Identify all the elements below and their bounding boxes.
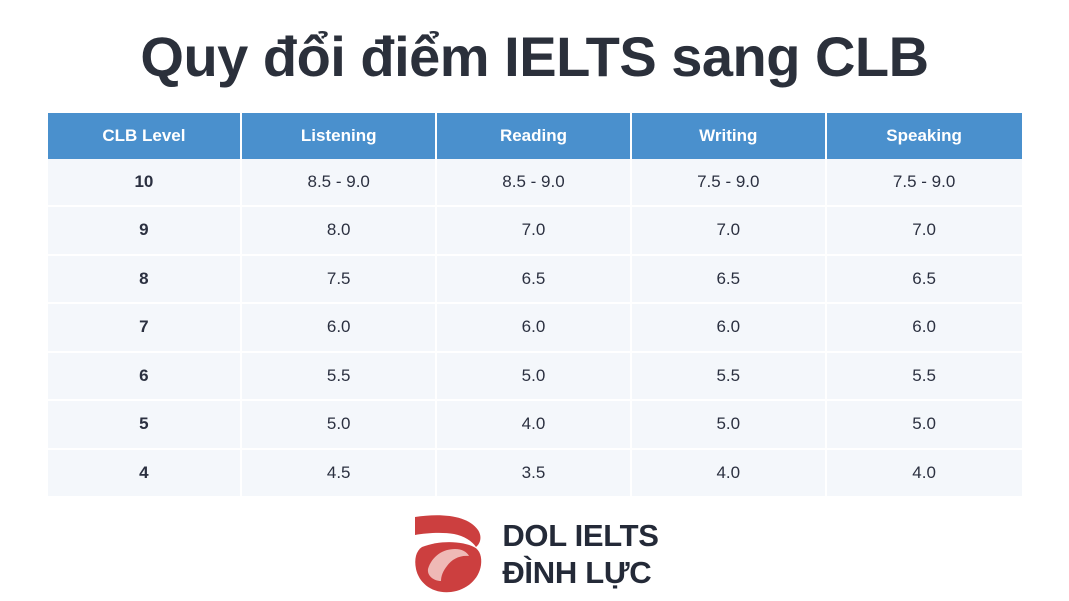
cell-clb-level: 5 bbox=[48, 401, 243, 450]
column-header-speaking: Speaking bbox=[827, 113, 1022, 159]
cell-listening: 5.5 bbox=[242, 353, 437, 402]
table-header: CLB Level Listening Reading Writing Spea… bbox=[48, 113, 1022, 159]
dol-leaf-mark-icon bbox=[410, 513, 488, 595]
cell-reading: 7.0 bbox=[437, 207, 632, 256]
table-header-row: CLB Level Listening Reading Writing Spea… bbox=[48, 113, 1022, 159]
score-table-container: CLB Level Listening Reading Writing Spea… bbox=[48, 113, 1022, 497]
cell-speaking: 6.5 bbox=[827, 256, 1022, 305]
cell-clb-level: 10 bbox=[48, 159, 243, 208]
cell-clb-level: 7 bbox=[48, 304, 243, 353]
cell-clb-level: 4 bbox=[48, 450, 243, 497]
logo-line-dinh-luc: ĐÌNH LỰC bbox=[502, 557, 658, 588]
column-header-writing: Writing bbox=[632, 113, 827, 159]
cell-writing: 5.0 bbox=[632, 401, 827, 450]
cell-speaking: 5.0 bbox=[827, 401, 1022, 450]
cell-writing: 5.5 bbox=[632, 353, 827, 402]
cell-clb-level: 6 bbox=[48, 353, 243, 402]
cell-clb-level: 9 bbox=[48, 207, 243, 256]
cell-speaking: 7.5 - 9.0 bbox=[827, 159, 1022, 208]
cell-reading: 6.0 bbox=[437, 304, 632, 353]
table-body: 10 8.5 - 9.0 8.5 - 9.0 7.5 - 9.0 7.5 - 9… bbox=[48, 159, 1022, 497]
cell-speaking: 5.5 bbox=[827, 353, 1022, 402]
table-row: 6 5.5 5.0 5.5 5.5 bbox=[48, 353, 1022, 402]
logo-text-block: DOL IELTS ĐÌNH LỰC bbox=[502, 520, 658, 588]
cell-listening: 8.5 - 9.0 bbox=[242, 159, 437, 208]
column-header-clb-level: CLB Level bbox=[48, 113, 243, 159]
logo-line-dol-ielts: DOL IELTS bbox=[502, 520, 658, 551]
cell-speaking: 7.0 bbox=[827, 207, 1022, 256]
page-title: Quy đổi điểm IELTS sang CLB bbox=[140, 0, 928, 89]
cell-listening: 6.0 bbox=[242, 304, 437, 353]
table-row: 7 6.0 6.0 6.0 6.0 bbox=[48, 304, 1022, 353]
cell-listening: 5.0 bbox=[242, 401, 437, 450]
column-header-reading: Reading bbox=[437, 113, 632, 159]
cell-reading: 5.0 bbox=[437, 353, 632, 402]
cell-writing: 6.5 bbox=[632, 256, 827, 305]
cell-speaking: 4.0 bbox=[827, 450, 1022, 497]
ielts-clb-conversion-table: CLB Level Listening Reading Writing Spea… bbox=[48, 113, 1022, 497]
table-row: 5 5.0 4.0 5.0 5.0 bbox=[48, 401, 1022, 450]
column-header-listening: Listening bbox=[242, 113, 437, 159]
cell-writing: 6.0 bbox=[632, 304, 827, 353]
cell-listening: 7.5 bbox=[242, 256, 437, 305]
cell-speaking: 6.0 bbox=[827, 304, 1022, 353]
table-row: 8 7.5 6.5 6.5 6.5 bbox=[48, 256, 1022, 305]
table-row: 9 8.0 7.0 7.0 7.0 bbox=[48, 207, 1022, 256]
cell-writing: 4.0 bbox=[632, 450, 827, 497]
cell-writing: 7.5 - 9.0 bbox=[632, 159, 827, 208]
cell-reading: 4.0 bbox=[437, 401, 632, 450]
cell-listening: 8.0 bbox=[242, 207, 437, 256]
cell-writing: 7.0 bbox=[632, 207, 827, 256]
page-root: Quy đổi điểm IELTS sang CLB CLB Level Li… bbox=[0, 0, 1069, 601]
table-row: 10 8.5 - 9.0 8.5 - 9.0 7.5 - 9.0 7.5 - 9… bbox=[48, 159, 1022, 208]
cell-reading: 8.5 - 9.0 bbox=[437, 159, 632, 208]
table-row: 4 4.5 3.5 4.0 4.0 bbox=[48, 450, 1022, 497]
cell-listening: 4.5 bbox=[242, 450, 437, 497]
cell-clb-level: 8 bbox=[48, 256, 243, 305]
brand-logo: DOL IELTS ĐÌNH LỰC bbox=[410, 513, 658, 595]
cell-reading: 6.5 bbox=[437, 256, 632, 305]
cell-reading: 3.5 bbox=[437, 450, 632, 497]
